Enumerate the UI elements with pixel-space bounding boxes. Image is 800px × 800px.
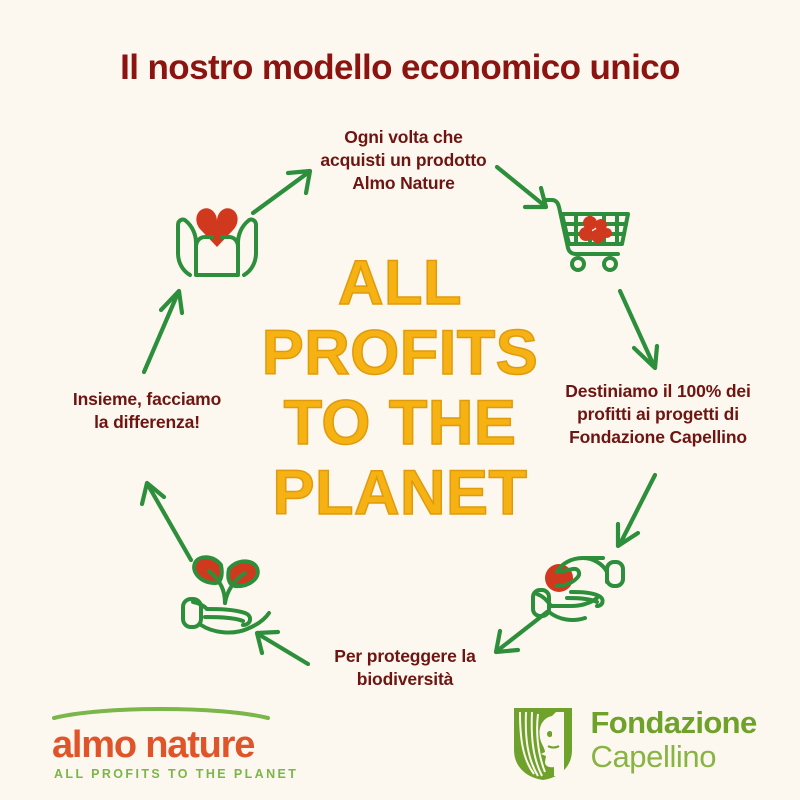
caption-donate-line-3: Fondazione Capellino: [548, 426, 768, 449]
caption-biodiversity-line-2: biodiversità: [305, 668, 505, 691]
caption-purchase-line-1: Ogni volta che: [296, 126, 511, 149]
almo-nature-arc-icon: [52, 706, 270, 720]
arrow-cart-to-donate: [620, 291, 657, 368]
fondazione-capellino-shield-icon: [512, 706, 574, 782]
headline-line-4: PLANET: [255, 458, 545, 528]
caption-purchase-line-2: acquisti un prodotto: [296, 149, 511, 172]
caption-biodiversity-line-1: Per proteggere la: [305, 645, 505, 668]
caption-biodiversity: Per proteggere la biodiversità: [305, 645, 505, 691]
almo-nature-tagline: ALL PROFITS TO THE PLANET: [54, 767, 298, 781]
caption-donate-line-2: profitti ai progetti di: [548, 403, 768, 426]
caption-together-line-2: la differenza!: [48, 411, 246, 434]
arrow-donate-to-hands: [618, 475, 655, 546]
almo-nature-wordmark: almo nature: [52, 725, 298, 765]
fondazione-capellino-wordmark: Fondazione Capellino: [590, 706, 756, 774]
caption-together-line-1: Insieme, facciamo: [48, 388, 246, 411]
fondazione-line-2: Capellino: [590, 740, 756, 774]
caption-purchase: Ogni volta che acquisti un prodotto Almo…: [296, 126, 511, 195]
shopping-cart-icon: [538, 190, 634, 279]
heart-in-hands-icon: [170, 187, 264, 282]
giving-hands-icon: [527, 548, 631, 637]
caption-purchase-line-3: Almo Nature: [296, 172, 511, 195]
caption-donate-line-1: Destiniamo il 100% dei: [548, 380, 768, 403]
almo-nature-logo[interactable]: almo nature ALL PROFITS TO THE PLANET: [52, 706, 298, 781]
arrow-together-to-heart: [144, 291, 182, 372]
caption-donate: Destiniamo il 100% dei profitti ai proge…: [548, 380, 768, 449]
headline-line-1: ALL: [255, 248, 545, 318]
caption-together: Insieme, facciamo la differenza!: [48, 388, 246, 434]
fondazione-capellino-logo[interactable]: Fondazione Capellino: [512, 706, 757, 782]
center-headline: ALL PROFITS TO THE PLANET: [255, 248, 545, 528]
plant-in-hand-icon: [177, 547, 275, 642]
headline-line-3: TO THE: [255, 388, 545, 458]
fondazione-line-1: Fondazione: [590, 706, 756, 740]
headline-line-2: PROFITS: [255, 318, 545, 388]
infographic-canvas: Il nostro modello economico unico: [0, 0, 800, 800]
